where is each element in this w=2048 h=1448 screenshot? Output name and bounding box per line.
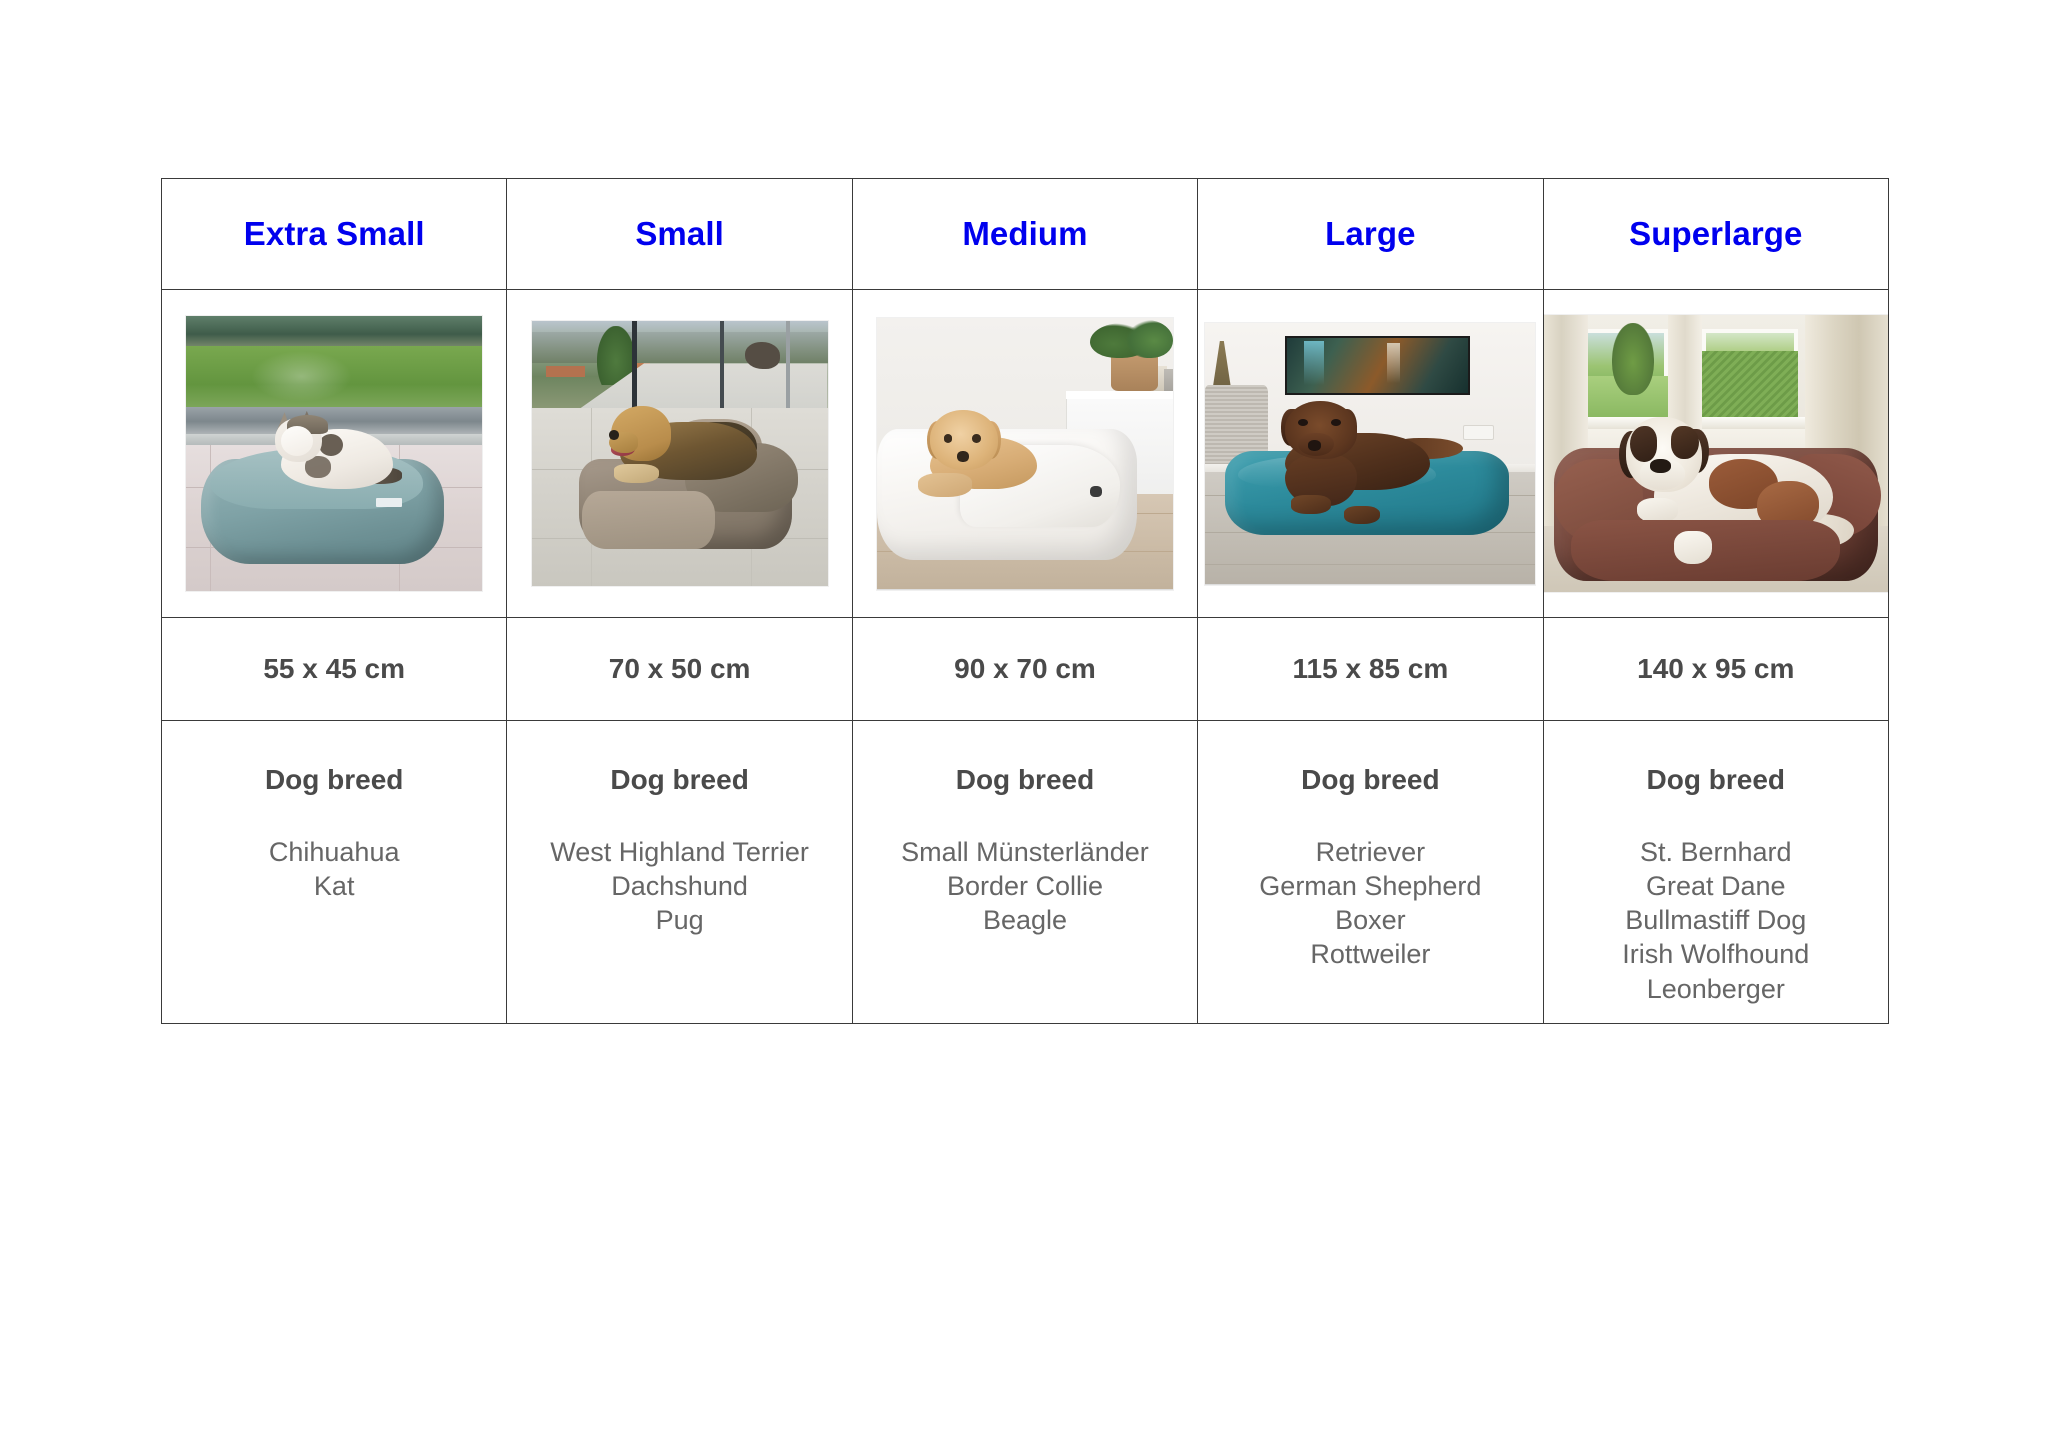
- list-item: Rottweiler: [1198, 937, 1542, 971]
- size-cell-large: 115 x 85 cm: [1198, 618, 1543, 721]
- product-photo-superlarge: [1544, 315, 1888, 592]
- breed-cell-extra-small: Dog breed Chihuahua Kat: [162, 721, 507, 1024]
- floor-plank-seam-3: [1205, 564, 1535, 565]
- breed-heading-large: Dog breed: [1198, 763, 1542, 797]
- woven-plant-basket: [1111, 353, 1158, 391]
- category-title-extra-small: Extra Small: [162, 216, 506, 252]
- tree-outside: [1612, 323, 1653, 395]
- photo-cell-extra-small: [162, 290, 507, 618]
- list-item: Kat: [162, 869, 506, 903]
- header-cell-extra-small: Extra Small: [162, 179, 507, 290]
- size-value-medium: 90 x 70 cm: [853, 653, 1197, 685]
- breed-cell-large: Dog breed Retriever German Shepherd Boxe…: [1198, 721, 1543, 1024]
- photo-cell-medium: [852, 290, 1197, 618]
- labrador-eye-left: [1298, 419, 1308, 426]
- size-value-superlarge: 140 x 95 cm: [1544, 653, 1888, 685]
- size-cell-medium: 90 x 70 cm: [852, 618, 1197, 721]
- window-frame-band: [186, 316, 482, 349]
- sofa-bed-front-panel: [582, 491, 715, 549]
- hedge-outside: [1702, 351, 1798, 417]
- breed-block-superlarge: Dog breed St. Bernhard Great Dane Bullma…: [1544, 721, 1888, 1006]
- breed-heading-medium: Dog breed: [853, 763, 1197, 797]
- size-cell-extra-small: 55 x 45 cm: [162, 618, 507, 721]
- table-photo-row: [162, 290, 1889, 618]
- breed-heading-small: Dog breed: [507, 763, 851, 797]
- photo-cell-superlarge: [1543, 290, 1888, 618]
- header-cell-large: Large: [1198, 179, 1543, 290]
- breed-cell-small: Dog breed West Highland Terrier Dachshun…: [507, 721, 852, 1024]
- list-item: Small Münsterländer: [853, 835, 1197, 869]
- breed-heading-superlarge: Dog breed: [1544, 763, 1888, 797]
- breed-heading-extra-small: Dog breed: [162, 763, 506, 797]
- product-photo-medium: [877, 318, 1173, 590]
- breed-cell-medium: Dog breed Small Münsterländer Border Col…: [852, 721, 1197, 1024]
- artwork-highlight-2: [1387, 343, 1400, 382]
- list-item: Retriever: [1198, 835, 1542, 869]
- saint-bernard-nose: [1650, 459, 1671, 473]
- size-value-small: 70 x 50 cm: [507, 653, 851, 685]
- cockapoo-eye-right: [972, 434, 981, 442]
- category-title-medium: Medium: [853, 216, 1197, 252]
- wall-power-socket: [1463, 425, 1495, 440]
- breed-list-large: Retriever German Shepherd Boxer Rottweil…: [1198, 835, 1542, 972]
- size-cell-small: 70 x 50 cm: [507, 618, 852, 721]
- labrador-nose: [1308, 440, 1321, 450]
- photo-cell-small: [507, 290, 852, 618]
- cockapoo-nose: [957, 451, 969, 462]
- photo-wrap-extra-small: [162, 316, 506, 591]
- photo-cell-large: [1198, 290, 1543, 618]
- list-item: Irish Wolfhound: [1544, 937, 1888, 971]
- terrier-front-legs: [614, 464, 658, 483]
- list-item: Boxer: [1198, 903, 1542, 937]
- list-item: Bullmastiff Dog: [1544, 903, 1888, 937]
- saint-bernard-eye-mask-left: [1630, 426, 1658, 462]
- labrador-paw-right: [1344, 506, 1380, 524]
- size-value-large: 115 x 85 cm: [1198, 653, 1542, 685]
- bed-label-tag: [376, 498, 403, 508]
- table-header-row: Extra Small Small Medium Large Superlarg…: [162, 179, 1889, 290]
- saint-bernard-eye-mask-right: [1671, 426, 1699, 459]
- saint-bernard-paw-upper: [1637, 498, 1678, 523]
- breed-block-large: Dog breed Retriever German Shepherd Boxe…: [1198, 721, 1542, 972]
- list-item: Dachshund: [507, 869, 851, 903]
- list-item: Pug: [507, 903, 851, 937]
- list-item: Great Dane: [1544, 869, 1888, 903]
- size-value-extra-small: 55 x 45 cm: [162, 653, 506, 685]
- list-item: Chihuahua: [162, 835, 506, 869]
- candle-2: [1164, 369, 1173, 391]
- photo-wrap-superlarge: [1544, 315, 1888, 592]
- breed-cell-superlarge: Dog breed St. Bernhard Great Dane Bullma…: [1543, 721, 1888, 1024]
- size-cell-superlarge: 140 x 95 cm: [1543, 618, 1888, 721]
- table-size-row: 55 x 45 cm 70 x 50 cm 90 x 70 cm 115 x 8…: [162, 618, 1889, 721]
- product-photo-large: [1205, 323, 1535, 585]
- list-item: West Highland Terrier: [507, 835, 851, 869]
- header-cell-superlarge: Superlarge: [1543, 179, 1888, 290]
- saint-bernard-paw-front: [1674, 531, 1712, 564]
- plant-foliage-right: [1126, 320, 1173, 358]
- rooftop-1: [546, 366, 584, 377]
- list-item: Beagle: [853, 903, 1197, 937]
- garden-rock: [745, 342, 781, 369]
- header-cell-medium: Medium: [852, 179, 1197, 290]
- category-title-large: Large: [1198, 216, 1542, 252]
- product-photo-small: [532, 321, 828, 586]
- cockapoo-eye-left: [944, 434, 953, 442]
- category-title-superlarge: Superlarge: [1544, 216, 1888, 252]
- cabinet-top-surface: [1066, 391, 1173, 399]
- page-canvas: Extra Small Small Medium Large Superlarg…: [0, 0, 2048, 1448]
- labrador-eye-right: [1331, 419, 1341, 426]
- breed-list-medium: Small Münsterländer Border Collie Beagle: [853, 835, 1197, 938]
- distant-hills: [532, 332, 828, 364]
- photo-wrap-small: [507, 321, 851, 586]
- list-item: St. Bernhard: [1544, 835, 1888, 869]
- bed-label-tag: [1090, 486, 1102, 497]
- lawn-through-window: [186, 346, 482, 409]
- photo-wrap-medium: [853, 318, 1197, 590]
- breed-block-medium: Dog breed Small Münsterländer Border Col…: [853, 721, 1197, 937]
- list-item: Border Collie: [853, 869, 1197, 903]
- breed-block-small: Dog breed West Highland Terrier Dachshun…: [507, 721, 851, 937]
- photo-wrap-large: [1198, 323, 1542, 585]
- breed-list-extra-small: Chihuahua Kat: [162, 835, 506, 904]
- list-item: German Shepherd: [1198, 869, 1542, 903]
- breed-list-superlarge: St. Bernhard Great Dane Bullmastiff Dog …: [1544, 835, 1888, 1006]
- labrador-paw-left: [1291, 495, 1331, 513]
- category-title-small: Small: [507, 216, 851, 252]
- dog-bed-size-table: Extra Small Small Medium Large Superlarg…: [161, 178, 1889, 1024]
- breed-block-extra-small: Dog breed Chihuahua Kat: [162, 721, 506, 903]
- artwork-highlight-1: [1304, 341, 1324, 386]
- list-item: Leonberger: [1544, 972, 1888, 1006]
- product-photo-extra-small: [186, 316, 482, 591]
- header-cell-small: Small: [507, 179, 852, 290]
- cockapoo-front-paws: [918, 473, 971, 497]
- table-breed-row: Dog breed Chihuahua Kat Dog breed West H…: [162, 721, 1889, 1024]
- breed-list-small: West Highland Terrier Dachshund Pug: [507, 835, 851, 938]
